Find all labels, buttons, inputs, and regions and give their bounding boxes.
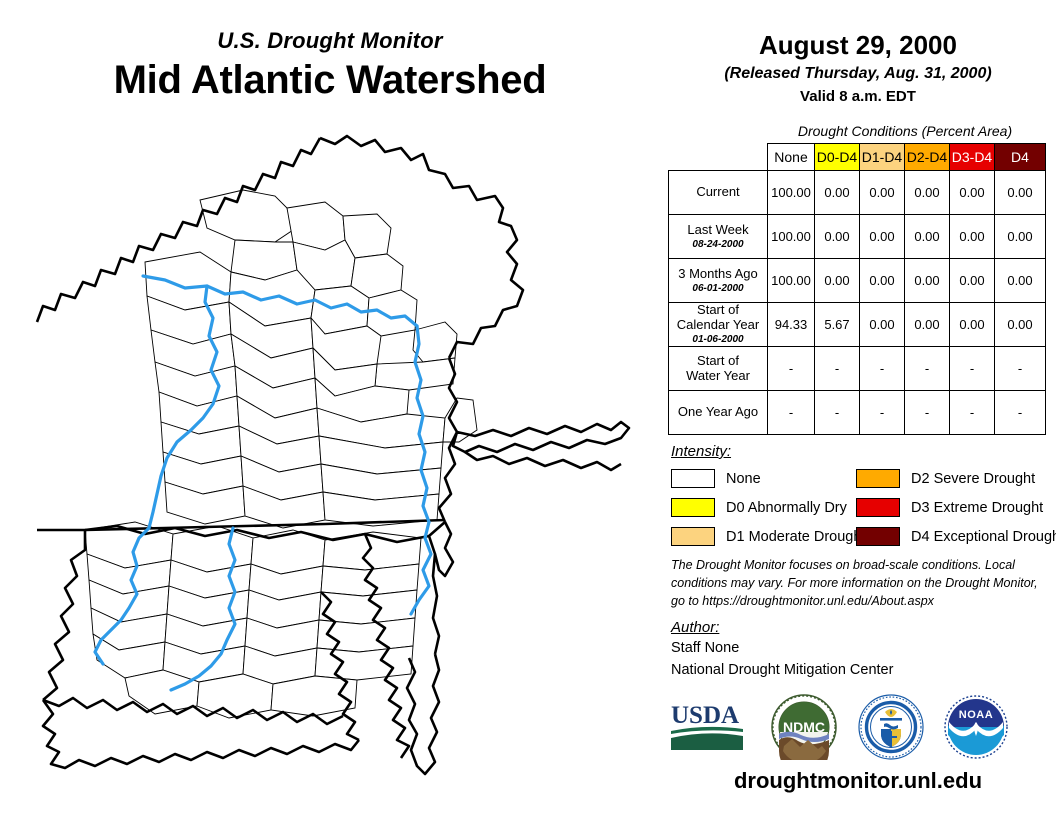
row-label: Last Week08-24-2000	[669, 215, 768, 259]
usda-logo: USDA	[669, 698, 745, 752]
table-cell-d1-d4: 0.00	[860, 215, 905, 259]
table-cell-none: 100.00	[768, 259, 815, 303]
legend-swatch	[671, 527, 715, 546]
col-header-d2-d4: D2-D4	[905, 144, 950, 171]
table-cell-d1-d4: 0.00	[860, 259, 905, 303]
legend-swatch	[856, 527, 900, 546]
table-cell-d0-d4: 0.00	[815, 171, 860, 215]
row-label-line: Start of	[669, 354, 767, 369]
row-label: One Year Ago	[669, 391, 768, 435]
drought-monitor-page: U.S. Drought Monitor Mid Atlantic Waters…	[0, 0, 1056, 816]
table-cell-d0-d4: 5.67	[815, 303, 860, 347]
page-title: U.S. Drought Monitor Mid Atlantic Waters…	[0, 28, 660, 103]
table-cell-d0-d4: -	[815, 391, 860, 435]
table-cell-d3-d4: 0.00	[950, 303, 995, 347]
table-cell-none: 94.33	[768, 303, 815, 347]
legend-label: D3 Extreme Drought	[911, 500, 1043, 516]
table-body: Current100.000.000.000.000.000.00Last We…	[669, 171, 1046, 435]
disclaimer-text: The Drought Monitor focuses on broad-sca…	[671, 556, 1046, 610]
table-cell-d1-d4: 0.00	[860, 171, 905, 215]
table-cell-d2-d4: 0.00	[905, 259, 950, 303]
svg-text:USDA: USDA	[671, 702, 739, 729]
table-row: Start ofWater Year------	[669, 347, 1046, 391]
row-label-line: Current	[669, 185, 767, 200]
table-cell-d3-d4: 0.00	[950, 215, 995, 259]
valid-time: Valid 8 a.m. EDT	[660, 88, 1056, 105]
table-cell-d2-d4: 0.00	[905, 303, 950, 347]
col-header-d3-d4: D3-D4	[950, 144, 995, 171]
table-cell-d4: 0.00	[995, 259, 1046, 303]
row-label-line: Water Year	[669, 369, 767, 384]
legend-label: D4 Exceptional Drought	[911, 529, 1056, 545]
release-date: (Released Thursday, Aug. 31, 2000)	[660, 65, 1056, 83]
row-label-line: Calendar Year	[669, 318, 767, 333]
table-row: Last Week08-24-2000100.000.000.000.000.0…	[669, 215, 1046, 259]
table-cell-d4: -	[995, 347, 1046, 391]
legend-item: D4 Exceptional Drought	[856, 524, 1056, 549]
table-cell-d2-d4: -	[905, 347, 950, 391]
noaa-logo: NOAA	[943, 695, 1009, 759]
col-header-none: None	[768, 144, 815, 171]
legend-label: None	[726, 471, 761, 487]
table-row: Start ofCalendar Year01-06-200094.335.67…	[669, 303, 1046, 347]
table-caption: Drought Conditions (Percent Area)	[760, 123, 1050, 139]
table-cell-d3-d4: 0.00	[950, 259, 995, 303]
legend-swatch	[671, 469, 715, 488]
row-label-line: Last Week	[669, 223, 767, 238]
report-date: August 29, 2000	[660, 30, 1056, 61]
row-label: Start ofCalendar Year01-06-2000	[669, 303, 768, 347]
table-cell-d4: -	[995, 391, 1046, 435]
table-cell-d4: 0.00	[995, 171, 1046, 215]
col-header-d4: D4	[995, 144, 1046, 171]
table-row: 3 Months Ago06-01-2000100.000.000.000.00…	[669, 259, 1046, 303]
row-label-line: One Year Ago	[669, 405, 767, 420]
table-cell-d4: 0.00	[995, 215, 1046, 259]
table-cell-d0-d4: -	[815, 347, 860, 391]
table-cell-d1-d4: 0.00	[860, 303, 905, 347]
legend-label: D2 Severe Drought	[911, 471, 1035, 487]
us-department-of-commerce-seal	[858, 694, 924, 760]
table-cell-none: -	[768, 391, 815, 435]
legend-swatch	[856, 498, 900, 517]
table-corner-cell	[669, 144, 768, 171]
legend-swatch	[856, 469, 900, 488]
legend-item: D3 Extreme Drought	[856, 495, 1056, 520]
row-label: 3 Months Ago06-01-2000	[669, 259, 768, 303]
row-label: Current	[669, 171, 768, 215]
table-cell-d4: 0.00	[995, 303, 1046, 347]
drought-conditions-table: None D0-D4 D1-D4 D2-D4 D3-D4 D4 Current1…	[668, 143, 1046, 435]
table-cell-d3-d4: -	[950, 391, 995, 435]
table-cell-d0-d4: 0.00	[815, 215, 860, 259]
mid-atlantic-watershed-map	[25, 130, 645, 790]
table-cell-d3-d4: -	[950, 347, 995, 391]
site-url: droughtmonitor.unl.edu	[660, 768, 1056, 794]
table-cell-d0-d4: 0.00	[815, 259, 860, 303]
ndmc-logo: NDMC	[770, 694, 838, 760]
row-label-date: 01-06-2000	[669, 334, 767, 346]
legend-item: None	[671, 466, 865, 491]
legend-column-right: D2 Severe DroughtD3 Extreme DroughtD4 Ex…	[856, 466, 1056, 553]
row-label-date: 06-01-2000	[669, 283, 767, 295]
author-heading: Author:	[671, 619, 719, 636]
table-cell-d2-d4: 0.00	[905, 171, 950, 215]
table-cell-d1-d4: -	[860, 347, 905, 391]
region-title: Mid Atlantic Watershed	[0, 58, 660, 103]
map-svg	[25, 130, 645, 790]
row-label-line: 3 Months Ago	[669, 267, 767, 282]
table-cell-d2-d4: 0.00	[905, 215, 950, 259]
legend-label: D1 Moderate Drought	[726, 529, 865, 545]
table-cell-none: 100.00	[768, 171, 815, 215]
table-header-row: None D0-D4 D1-D4 D2-D4 D3-D4 D4	[669, 144, 1046, 171]
col-header-d1-d4: D1-D4	[860, 144, 905, 171]
map-basemap	[37, 136, 629, 774]
legend-item: D1 Moderate Drought	[671, 524, 865, 549]
row-label: Start ofWater Year	[669, 347, 768, 391]
table-cell-none: -	[768, 347, 815, 391]
legend-swatch	[671, 498, 715, 517]
table-cell-none: 100.00	[768, 215, 815, 259]
logo-strip: USDA NDMC	[660, 694, 1056, 760]
author-block: Staff None National Drought Mitigation C…	[671, 638, 893, 682]
author-name: Staff None	[671, 638, 893, 660]
legend-label: D0 Abnormally Dry	[726, 500, 847, 516]
table-cell-d3-d4: 0.00	[950, 171, 995, 215]
table-row: One Year Ago------	[669, 391, 1046, 435]
table-cell-d1-d4: -	[860, 391, 905, 435]
row-label-date: 08-24-2000	[669, 239, 767, 251]
legend-item: D0 Abnormally Dry	[671, 495, 865, 520]
author-organization: National Drought Mitigation Center	[671, 660, 893, 682]
svg-text:NOAA: NOAA	[959, 709, 993, 721]
legend-item: D2 Severe Drought	[856, 466, 1056, 491]
legend-column-left: NoneD0 Abnormally DryD1 Moderate Drought	[671, 466, 865, 553]
county-boundaries-north	[145, 190, 477, 448]
table-row: Current100.000.000.000.000.000.00	[669, 171, 1046, 215]
intensity-heading: Intensity:	[671, 443, 731, 460]
col-header-d0-d4: D0-D4	[815, 144, 860, 171]
table-cell-d2-d4: -	[905, 391, 950, 435]
org-title: U.S. Drought Monitor	[0, 28, 660, 54]
date-header: August 29, 2000 (Released Thursday, Aug.…	[660, 30, 1056, 105]
row-label-line: Start of	[669, 303, 767, 318]
